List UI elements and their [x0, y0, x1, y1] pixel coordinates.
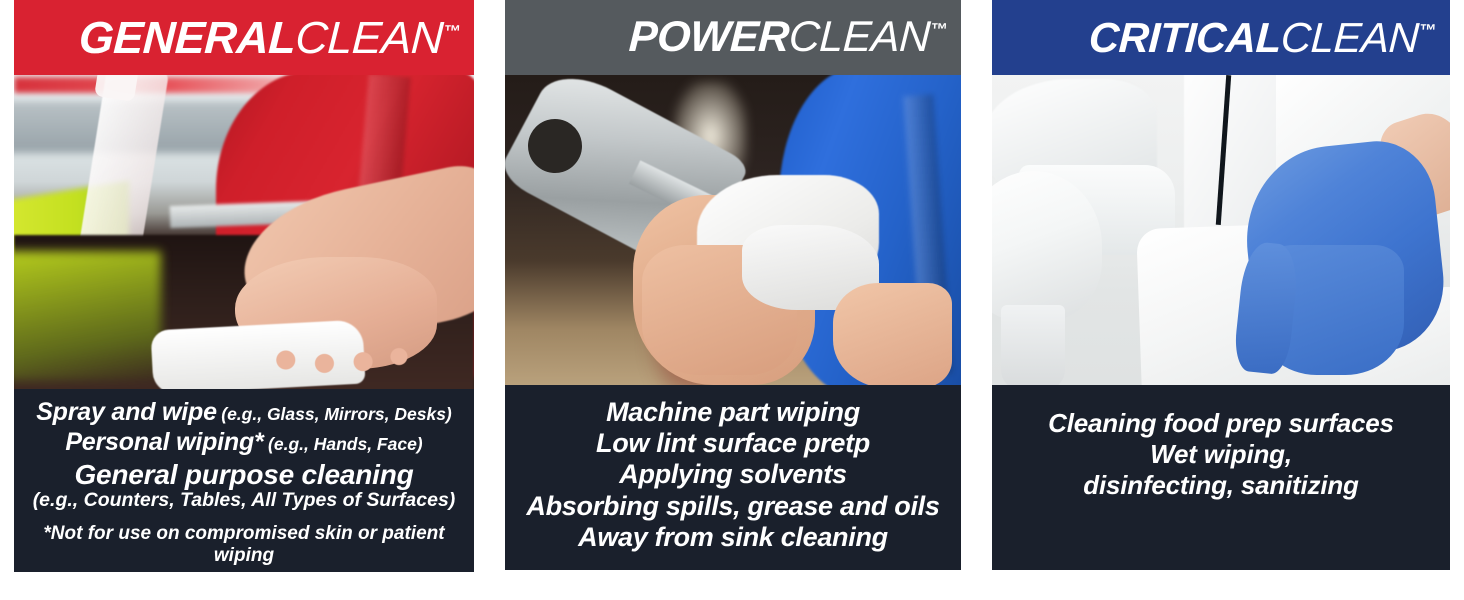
- panel-power-clean: POWERCLEAN™ Machine part wiping Low lint…: [505, 0, 961, 570]
- caption-general-clean: Spray and wipe (e.g., Glass, Mirrors, De…: [14, 389, 474, 572]
- panel-general-clean: GENERALCLEAN™ Spray and wipe (e.g., Glas…: [14, 0, 474, 572]
- caption-line-4-sub: (e.g., Counters, Tables, All Types of Su…: [33, 489, 456, 511]
- panel-critical-clean: CRITICALCLEAN™ Cleaning food prep surfac…: [992, 0, 1450, 570]
- caption-line-3: General purpose cleaning: [22, 459, 466, 490]
- caption-line: Low lint surface pretp: [513, 428, 953, 458]
- photo-general-clean: [14, 75, 474, 389]
- panel-header-general-clean: GENERALCLEAN™: [14, 0, 474, 75]
- panel-header-critical-clean: CRITICALCLEAN™: [992, 0, 1450, 75]
- trademark-symbol: ™: [1419, 21, 1437, 40]
- brand-light-word: CLEAN: [1280, 14, 1420, 61]
- brand-wordmark-power-clean: POWERCLEAN™: [628, 16, 948, 59]
- brand-bold-word: CRITICAL: [1088, 14, 1282, 61]
- caption-line-1-strong: Spray and wipe: [36, 398, 217, 426]
- caption-line-1-note: (e.g., Glass, Mirrors, Desks): [221, 404, 452, 424]
- caption-line-1: Spray and wipe (e.g., Glass, Mirrors, De…: [22, 398, 466, 426]
- caption-line-4: (e.g., Counters, Tables, All Types of Su…: [22, 490, 466, 512]
- brand-bold-word: GENERAL: [78, 12, 297, 63]
- caption-line-2-strong: Personal wiping*: [65, 428, 263, 456]
- caption-line: Cleaning food prep surfaces: [1000, 409, 1442, 438]
- caption-line: Absorbing spills, grease and oils: [513, 491, 953, 521]
- brand-wordmark-critical-clean: CRITICALCLEAN™: [1088, 17, 1437, 59]
- brand-wordmark-general-clean: GENERALCLEAN™: [78, 15, 461, 60]
- caption-line: disinfecting, sanitizing: [1000, 471, 1442, 500]
- brand-bold-word: POWER: [628, 13, 790, 61]
- photo-critical-clean: [992, 75, 1450, 385]
- caption-critical-clean: Cleaning food prep surfaces Wet wiping, …: [992, 385, 1450, 570]
- photo-fingertips: [272, 343, 410, 377]
- brand-light-word: CLEAN: [294, 12, 444, 63]
- caption-line-2-note: (e.g., Hands, Face): [268, 434, 423, 454]
- caption-line: Wet wiping,: [1000, 440, 1442, 469]
- caption-footnote: *Not for use on compromised skin or pati…: [22, 523, 466, 567]
- brand-light-word: CLEAN: [788, 13, 931, 61]
- product-category-board: GENERALCLEAN™ Spray and wipe (e.g., Glas…: [0, 0, 1464, 600]
- caption-line: Applying solvents: [513, 459, 953, 489]
- caption-power-clean: Machine part wiping Low lint surface pre…: [505, 385, 961, 570]
- panel-header-power-clean: POWERCLEAN™: [505, 0, 961, 75]
- trademark-symbol: ™: [443, 22, 461, 41]
- caption-line: Away from sink cleaning: [513, 522, 953, 552]
- caption-line: Machine part wiping: [513, 397, 953, 427]
- photo-second-hand: [833, 283, 952, 385]
- photo-sink-pedestal: [1001, 305, 1065, 385]
- trademark-symbol: ™: [930, 20, 948, 39]
- photo-yellow-reflection: [14, 251, 161, 381]
- photo-power-clean: [505, 75, 961, 385]
- caption-line-3-strong: General purpose cleaning: [74, 459, 413, 490]
- caption-line-2: Personal wiping* (e.g., Hands, Face): [22, 428, 466, 456]
